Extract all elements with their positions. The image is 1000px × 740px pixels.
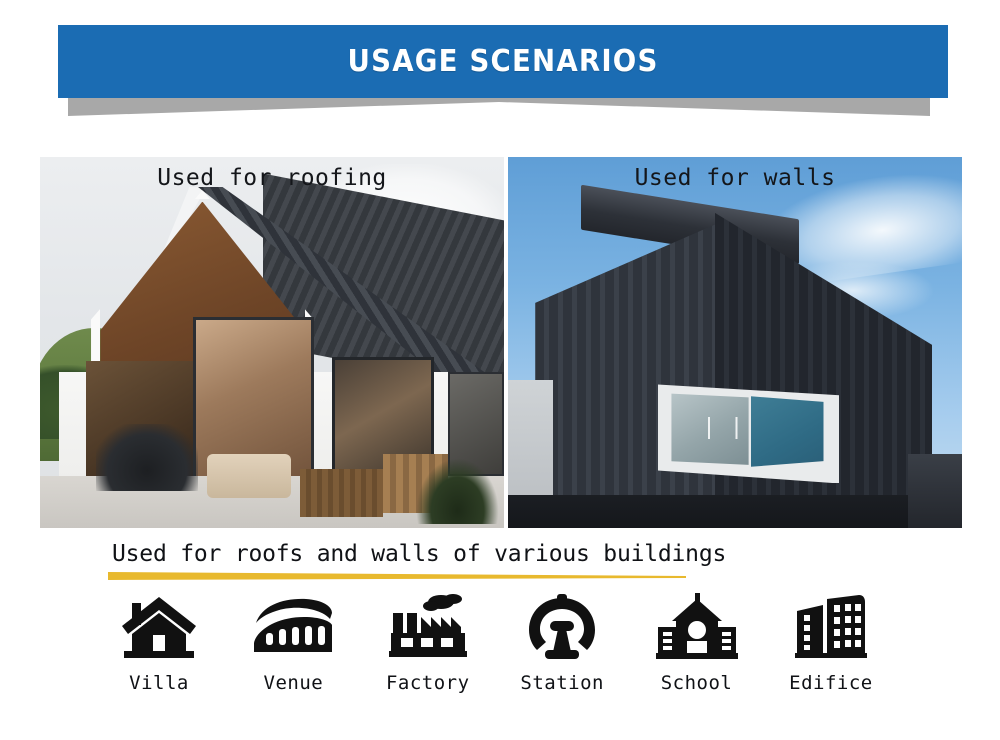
photo-caption-roofing: Used for roofing bbox=[40, 165, 504, 191]
application-label: Factory bbox=[386, 672, 470, 694]
tagline: Used for roofs and walls of various buil… bbox=[112, 541, 732, 587]
application-label: School bbox=[661, 672, 733, 694]
application-item-factory[interactable]: Factory bbox=[364, 592, 492, 694]
photo-used-for-walls: Used for walls bbox=[508, 157, 962, 528]
lower-shadow-band bbox=[508, 495, 962, 528]
header-banner: USAGE SCENARIOS bbox=[58, 25, 948, 98]
lower-right-structure bbox=[908, 454, 962, 528]
application-item-school[interactable]: School bbox=[633, 592, 761, 694]
application-label: Station bbox=[520, 672, 604, 694]
application-item-edifice[interactable]: Edifice bbox=[767, 592, 895, 694]
factory-icon bbox=[387, 592, 469, 664]
photo-strip: Used for roofing Used for walls bbox=[40, 157, 962, 528]
window-reflection bbox=[708, 417, 772, 439]
application-label: Venue bbox=[264, 672, 324, 694]
stadium-icon bbox=[250, 592, 336, 664]
application-item-venue[interactable]: Venue bbox=[229, 592, 357, 694]
application-label: Edifice bbox=[789, 672, 873, 694]
application-item-station[interactable]: Station bbox=[498, 592, 626, 694]
application-item-villa[interactable]: Villa bbox=[95, 592, 223, 694]
banner-wing-shape bbox=[68, 98, 930, 124]
wood-planter bbox=[300, 469, 384, 517]
office-towers-icon bbox=[793, 592, 869, 664]
palm-plant bbox=[416, 458, 500, 525]
tagline-underline bbox=[108, 571, 686, 583]
indoor-sofa bbox=[207, 454, 291, 499]
photo-used-for-roofing: Used for roofing bbox=[40, 157, 504, 528]
photo-caption-walls: Used for walls bbox=[508, 165, 962, 191]
school-icon bbox=[656, 592, 738, 664]
railway-station-icon bbox=[526, 592, 598, 664]
house-icon bbox=[120, 592, 198, 664]
application-icon-row: Villa Venue bbox=[95, 592, 895, 712]
application-label: Villa bbox=[129, 672, 189, 694]
page-title: USAGE SCENARIOS bbox=[347, 44, 658, 79]
outdoor-furniture bbox=[96, 424, 198, 491]
tagline-text: Used for roofs and walls of various buil… bbox=[112, 541, 732, 567]
